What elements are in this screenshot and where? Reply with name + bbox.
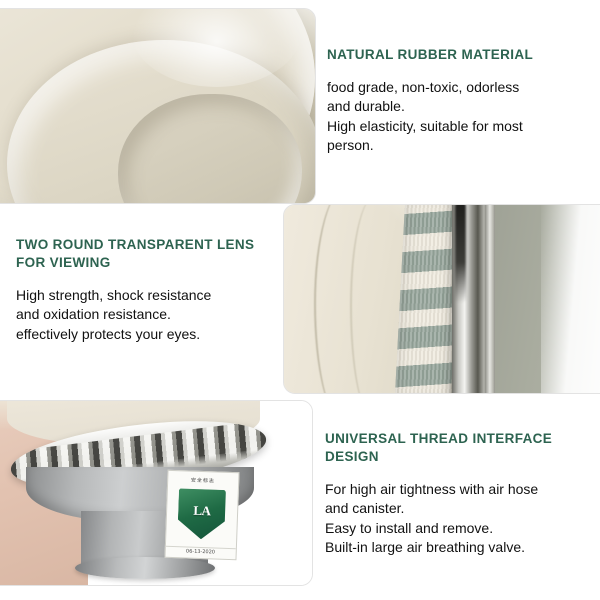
body-line: High strength, shock resistance [16, 286, 276, 305]
la-certification-label: 安全标志 LA 06-13-2020 [164, 470, 239, 561]
title-line: FOR VIEWING [16, 255, 111, 270]
feature-title-natural-rubber: NATURAL RUBBER MATERIAL [327, 46, 589, 64]
lens-metal-rim-closeup [284, 205, 600, 393]
la-shield-icon: LA [177, 488, 226, 540]
photo-card-thread-interface: 安全标志 LA 06-13-2020 [0, 400, 313, 586]
feature-body-transparent-lens: High strength, shock resistance and oxid… [16, 286, 276, 344]
la-label-date: 06-13-2020 [165, 546, 235, 556]
photo-card-transparent-lens [283, 204, 600, 394]
rubber-face-seal-closeup [0, 9, 315, 203]
title-line: TWO ROUND TRANSPARENT LENS [16, 237, 254, 252]
title-line: DESIGN [325, 449, 379, 464]
body-line: Built-in large air breathing valve. [325, 538, 591, 557]
la-label-chinese-text: 安全标志 [168, 476, 238, 485]
feature-title-transparent-lens: TWO ROUND TRANSPARENT LENS FOR VIEWING [16, 236, 276, 272]
la-shield-mark: LA [193, 503, 211, 520]
lens-background-fade [541, 205, 600, 393]
body-line: Easy to install and remove. [325, 519, 591, 538]
feature-text-natural-rubber: NATURAL RUBBER MATERIAL food grade, non-… [327, 46, 589, 155]
title-line: UNIVERSAL THREAD INTERFACE [325, 431, 552, 446]
feature-title-thread-interface: UNIVERSAL THREAD INTERFACE DESIGN [325, 430, 591, 466]
body-line: and canister. [325, 499, 591, 518]
feature-body-thread-interface: For high air tightness with air hose and… [325, 480, 591, 557]
thread-interface-canister-closeup: 安全标志 LA 06-13-2020 [0, 401, 312, 585]
feature-text-thread-interface: UNIVERSAL THREAD INTERFACE DESIGN For hi… [325, 430, 591, 557]
body-line: and oxidation resistance. [16, 305, 276, 324]
body-line: High elasticity, suitable for most [327, 117, 589, 136]
body-line: and durable. [327, 97, 589, 116]
feature-body-natural-rubber: food grade, non-toxic, odorless and dura… [327, 78, 589, 155]
infographic-page: NATURAL RUBBER MATERIAL food grade, non-… [0, 0, 600, 600]
body-line: For high air tightness with air hose [325, 480, 591, 499]
body-line: effectively protects your eyes. [16, 325, 276, 344]
body-line: food grade, non-toxic, odorless [327, 78, 589, 97]
feature-text-transparent-lens: TWO ROUND TRANSPARENT LENS FOR VIEWING H… [16, 236, 276, 344]
chrome-metal-rim [452, 205, 488, 393]
photo-card-natural-rubber [0, 8, 316, 204]
checkered-clamp-band [394, 205, 461, 393]
rubber-crease-secondary [350, 205, 403, 393]
body-line: person. [327, 136, 589, 155]
